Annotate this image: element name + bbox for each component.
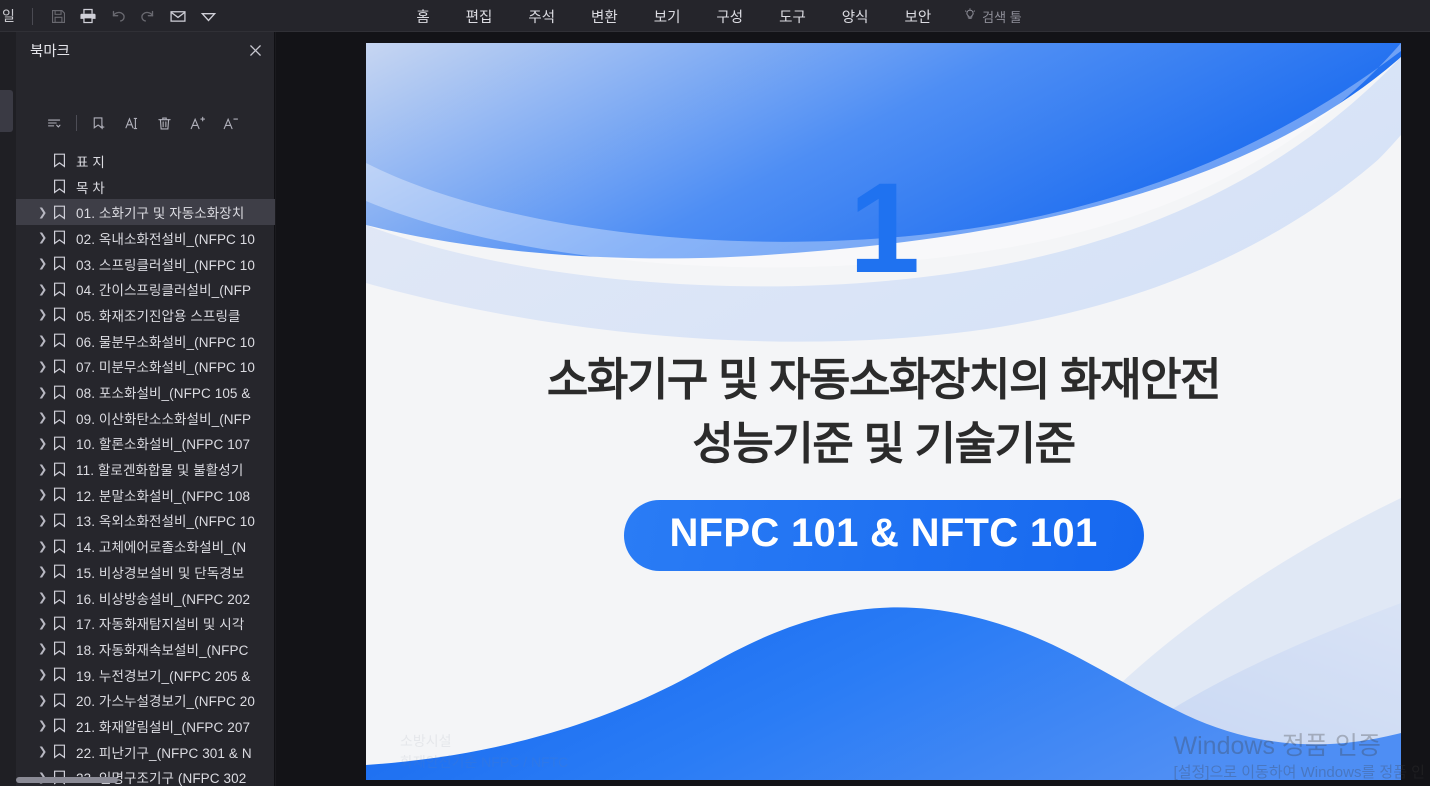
close-icon[interactable] xyxy=(245,40,265,60)
bookmark-item[interactable]: ❯01. 소화기구 및 자동소화장치 xyxy=(16,199,275,225)
standard-code-badge: NFPC 101 & NFTC 101 xyxy=(623,500,1143,571)
increase-font-icon[interactable] xyxy=(181,108,214,138)
bookmark-icon xyxy=(53,718,76,733)
pdf-page: 1 소화기구 및 자동소화장치의 화재안전 성능기준 및 기술기준 NFPC 1… xyxy=(366,43,1401,780)
bookmark-horizontal-scrollbar[interactable] xyxy=(16,777,118,783)
bookmark-item[interactable]: ❯13. 옥외소화전설비_(NFPC 10 xyxy=(16,508,275,534)
bookmark-panel-title: 북마크 xyxy=(16,40,70,61)
page-title: 소화기구 및 자동소화장치의 화재안전 성능기준 및 기술기준 xyxy=(426,348,1341,476)
bookmark-icon xyxy=(53,462,76,477)
bookmark-item-label: 21. 화재알림설비_(NFPC 207 xyxy=(76,716,250,736)
bookmark-icon xyxy=(53,385,76,400)
bookmark-item-label: 06. 물분무소화설비_(NFPC 10 xyxy=(76,331,255,351)
bookmark-toolbar xyxy=(16,106,275,140)
bookmark-item[interactable]: ❯18. 자동화재속보설비_(NFPC xyxy=(16,636,275,662)
bookmark-icon xyxy=(53,410,76,425)
bookmark-toolbar-divider xyxy=(76,115,77,131)
left-rail xyxy=(0,32,16,786)
decrease-font-icon[interactable] xyxy=(214,108,247,138)
bookmark-icon xyxy=(53,667,76,682)
bookmark-item-label: 18. 자동화재속보설비_(NFPC xyxy=(76,639,248,659)
bookmark-item-label: 08. 포소화설비_(NFPC 105 & xyxy=(76,382,251,402)
bookmark-icon xyxy=(53,256,76,271)
chevron-right-icon[interactable]: ❯ xyxy=(38,411,53,424)
bookmark-icon xyxy=(53,179,76,194)
bookmark-icon xyxy=(53,282,76,297)
top-toolbar: 일 xyxy=(0,0,1430,32)
bookmark-icon xyxy=(53,230,76,245)
bookmark-icon xyxy=(53,564,76,579)
bookmark-item-label: 17. 자동화재탐지설비 및 시각 xyxy=(76,613,244,633)
chevron-right-icon[interactable]: ❯ xyxy=(38,437,53,450)
bookmark-item[interactable]: ❯표 지 xyxy=(16,148,275,174)
bookmark-item-label: 02. 옥내소화전설비_(NFPC 10 xyxy=(76,228,255,248)
bookmark-item[interactable]: ❯05. 화재조기진압용 스프링클 xyxy=(16,302,275,328)
bookmark-item[interactable]: ❯08. 포소화설비_(NFPC 105 & xyxy=(16,379,275,405)
search-tool-button[interactable]: 검색 툴 xyxy=(949,0,1032,32)
bookmark-icon xyxy=(53,487,76,502)
bookmark-item[interactable]: ❯04. 간이스프링클러설비_(NFP xyxy=(16,276,275,302)
menu-item-edit[interactable]: 편집 xyxy=(448,0,511,32)
main-menu: 홈 편집 주석 변환 보기 구성 도구 양식 보안 검색 툴 xyxy=(0,0,1430,32)
chevron-right-icon[interactable]: ❯ xyxy=(38,617,53,630)
bookmark-icon xyxy=(53,513,76,528)
bookmark-item[interactable]: ❯14. 고체에어로졸소화설비_(N xyxy=(16,533,275,559)
bookmark-icon xyxy=(53,359,76,374)
bookmark-icon xyxy=(53,744,76,759)
bookmark-icon xyxy=(53,641,76,656)
bookmark-item-label: 12. 분말소화설비_(NFPC 108 xyxy=(76,485,250,505)
bookmark-item-label: 15. 비상경보설비 및 단독경보 xyxy=(76,562,244,582)
bookmark-icon xyxy=(53,205,76,220)
bookmark-item-label: 목 차 xyxy=(76,177,105,197)
bookmark-icon xyxy=(53,539,76,554)
bookmark-icon xyxy=(53,590,76,605)
chevron-right-icon[interactable]: ❯ xyxy=(38,488,53,501)
bookmark-item-label: 04. 간이스프링클러설비_(NFP xyxy=(76,279,251,299)
bookmark-panel-header: 북마크 xyxy=(16,32,275,68)
bookmark-item[interactable]: ❯10. 할론소화설비_(NFPC 107 xyxy=(16,431,275,457)
menu-item-comment[interactable]: 주석 xyxy=(510,0,573,32)
bookmark-item[interactable]: ❯목 차 xyxy=(16,174,275,200)
menu-item-view[interactable]: 보기 xyxy=(636,0,699,32)
chevron-right-icon[interactable]: ❯ xyxy=(38,565,53,578)
menu-item-home[interactable]: 홈 xyxy=(398,0,447,32)
bookmark-item[interactable]: ❯20. 가스누설경보기_(NFPC 20 xyxy=(16,687,275,713)
bookmark-icon xyxy=(53,436,76,451)
chevron-right-icon[interactable]: ❯ xyxy=(38,719,53,732)
bookmark-item-label: 03. 스프링클러설비_(NFPC 10 xyxy=(76,254,255,274)
document-viewer[interactable]: 1 소화기구 및 자동소화장치의 화재안전 성능기준 및 기술기준 NFPC 1… xyxy=(276,32,1430,786)
chevron-right-icon[interactable]: ❯ xyxy=(38,514,53,527)
chevron-right-icon[interactable]: ❯ xyxy=(38,206,53,219)
menu-item-security[interactable]: 보안 xyxy=(886,0,949,32)
chevron-right-icon[interactable]: ❯ xyxy=(38,463,53,476)
menu-item-organize[interactable]: 구성 xyxy=(698,0,761,32)
bookmark-panel: 북마크 xyxy=(16,32,275,786)
bookmark-item[interactable]: ❯12. 분말소화설비_(NFPC 108 xyxy=(16,482,275,508)
bookmark-item[interactable]: ❯02. 옥내소화전설비_(NFPC 10 xyxy=(16,225,275,251)
bookmark-item[interactable]: ❯07. 미분무소화설비_(NFPC 10 xyxy=(16,354,275,380)
bookmark-item-label: 20. 가스누설경보기_(NFPC 20 xyxy=(76,690,255,710)
chapter-number: 1 xyxy=(366,165,1401,293)
bookmark-icon xyxy=(53,307,76,322)
bookmark-item-label: 09. 이산화탄소소화설비_(NFP xyxy=(76,408,251,428)
faint-watermark-line2: 화재안전기준 NFPC / NFTC xyxy=(400,752,568,773)
bookmark-item[interactable]: ❯15. 비상경보설비 및 단독경보 xyxy=(16,559,275,585)
bookmark-icon xyxy=(53,153,76,168)
chevron-right-icon[interactable]: ❯ xyxy=(38,591,53,604)
chevron-right-icon[interactable]: ❯ xyxy=(38,668,53,681)
lightbulb-icon xyxy=(963,8,977,25)
page-title-line1: 소화기구 및 자동소화장치의 화재안전 xyxy=(426,348,1341,412)
chevron-right-icon[interactable]: ❯ xyxy=(38,360,53,373)
bookmark-item-label: 19. 누전경보기_(NFPC 205 & xyxy=(76,665,251,685)
menu-item-convert[interactable]: 변환 xyxy=(573,0,636,32)
page-title-line2: 성능기준 및 기술기준 xyxy=(426,412,1341,476)
chevron-right-icon[interactable]: ❯ xyxy=(38,540,53,553)
bookmark-item[interactable]: ❯09. 이산화탄소소화설비_(NFP xyxy=(16,405,275,431)
bookmark-item-label: 표 지 xyxy=(76,151,105,171)
application-window: 일 xyxy=(0,0,1430,786)
bookmark-item-label: 07. 미분무소화설비_(NFPC 10 xyxy=(76,356,255,376)
bookmark-item[interactable]: ❯16. 비상방송설비_(NFPC 202 xyxy=(16,585,275,611)
menu-item-form[interactable]: 양식 xyxy=(824,0,887,32)
bookmark-icon xyxy=(53,693,76,708)
bookmark-item-label: 01. 소화기구 및 자동소화장치 xyxy=(76,202,244,222)
bookmark-item[interactable]: ❯03. 스프링클러설비_(NFPC 10 xyxy=(16,251,275,277)
bookmark-item-label: 14. 고체에어로졸소화설비_(N xyxy=(76,536,246,556)
bookmark-item-label: 16. 비상방송설비_(NFPC 202 xyxy=(76,588,250,608)
chevron-right-icon[interactable]: ❯ xyxy=(38,386,53,399)
collapse-all-icon[interactable] xyxy=(38,108,71,138)
bookmark-item-label: 10. 할론소화설비_(NFPC 107 xyxy=(76,433,250,453)
bookmark-item[interactable]: ❯22. 피난기구_(NFPC 301 & N xyxy=(16,739,275,765)
faint-watermark-line1: 소방시설 xyxy=(400,731,568,752)
bookmark-item[interactable]: ❯06. 물분무소화설비_(NFPC 10 xyxy=(16,328,275,354)
chevron-right-icon[interactable]: ❯ xyxy=(38,257,53,270)
search-tool-label: 검색 툴 xyxy=(982,7,1022,26)
rail-active-tab[interactable] xyxy=(0,90,13,132)
chevron-right-icon[interactable]: ❯ xyxy=(38,283,53,296)
bookmark-item[interactable]: ❯19. 누전경보기_(NFPC 205 & xyxy=(16,662,275,688)
menu-item-tools[interactable]: 도구 xyxy=(761,0,824,32)
bookmark-item-label: 22. 피난기구_(NFPC 301 & N xyxy=(76,742,252,762)
bookmark-item-label: 11. 할로겐화합물 및 불활성기 xyxy=(76,459,243,479)
add-bookmark-icon[interactable] xyxy=(82,108,115,138)
bookmark-item-label: 05. 화재조기진압용 스프링클 xyxy=(76,305,241,325)
chevron-right-icon[interactable]: ❯ xyxy=(38,694,53,707)
bookmark-item[interactable]: ❯17. 자동화재탐지설비 및 시각 xyxy=(16,610,275,636)
bookmark-icon xyxy=(53,333,76,348)
rename-bookmark-icon[interactable] xyxy=(115,108,148,138)
chevron-right-icon[interactable]: ❯ xyxy=(38,745,53,758)
delete-bookmark-icon[interactable] xyxy=(148,108,181,138)
chevron-right-icon[interactable]: ❯ xyxy=(38,642,53,655)
bookmark-list[interactable]: ❯표 지❯목 차❯01. 소화기구 및 자동소화장치❯02. 옥내소화전설비_(… xyxy=(16,148,275,786)
chevron-right-icon[interactable]: ❯ xyxy=(38,231,53,244)
bookmark-item[interactable]: ❯11. 할로겐화합물 및 불활성기 xyxy=(16,456,275,482)
chevron-right-icon[interactable]: ❯ xyxy=(38,308,53,321)
page-faint-watermark: 소방시설 화재안전기준 NFPC / NFTC xyxy=(400,731,568,773)
chevron-right-icon[interactable]: ❯ xyxy=(38,334,53,347)
bookmark-item[interactable]: ❯21. 화재알림설비_(NFPC 207 xyxy=(16,713,275,739)
bookmark-item-label: 13. 옥외소화전설비_(NFPC 10 xyxy=(76,510,255,530)
bookmark-icon xyxy=(53,616,76,631)
